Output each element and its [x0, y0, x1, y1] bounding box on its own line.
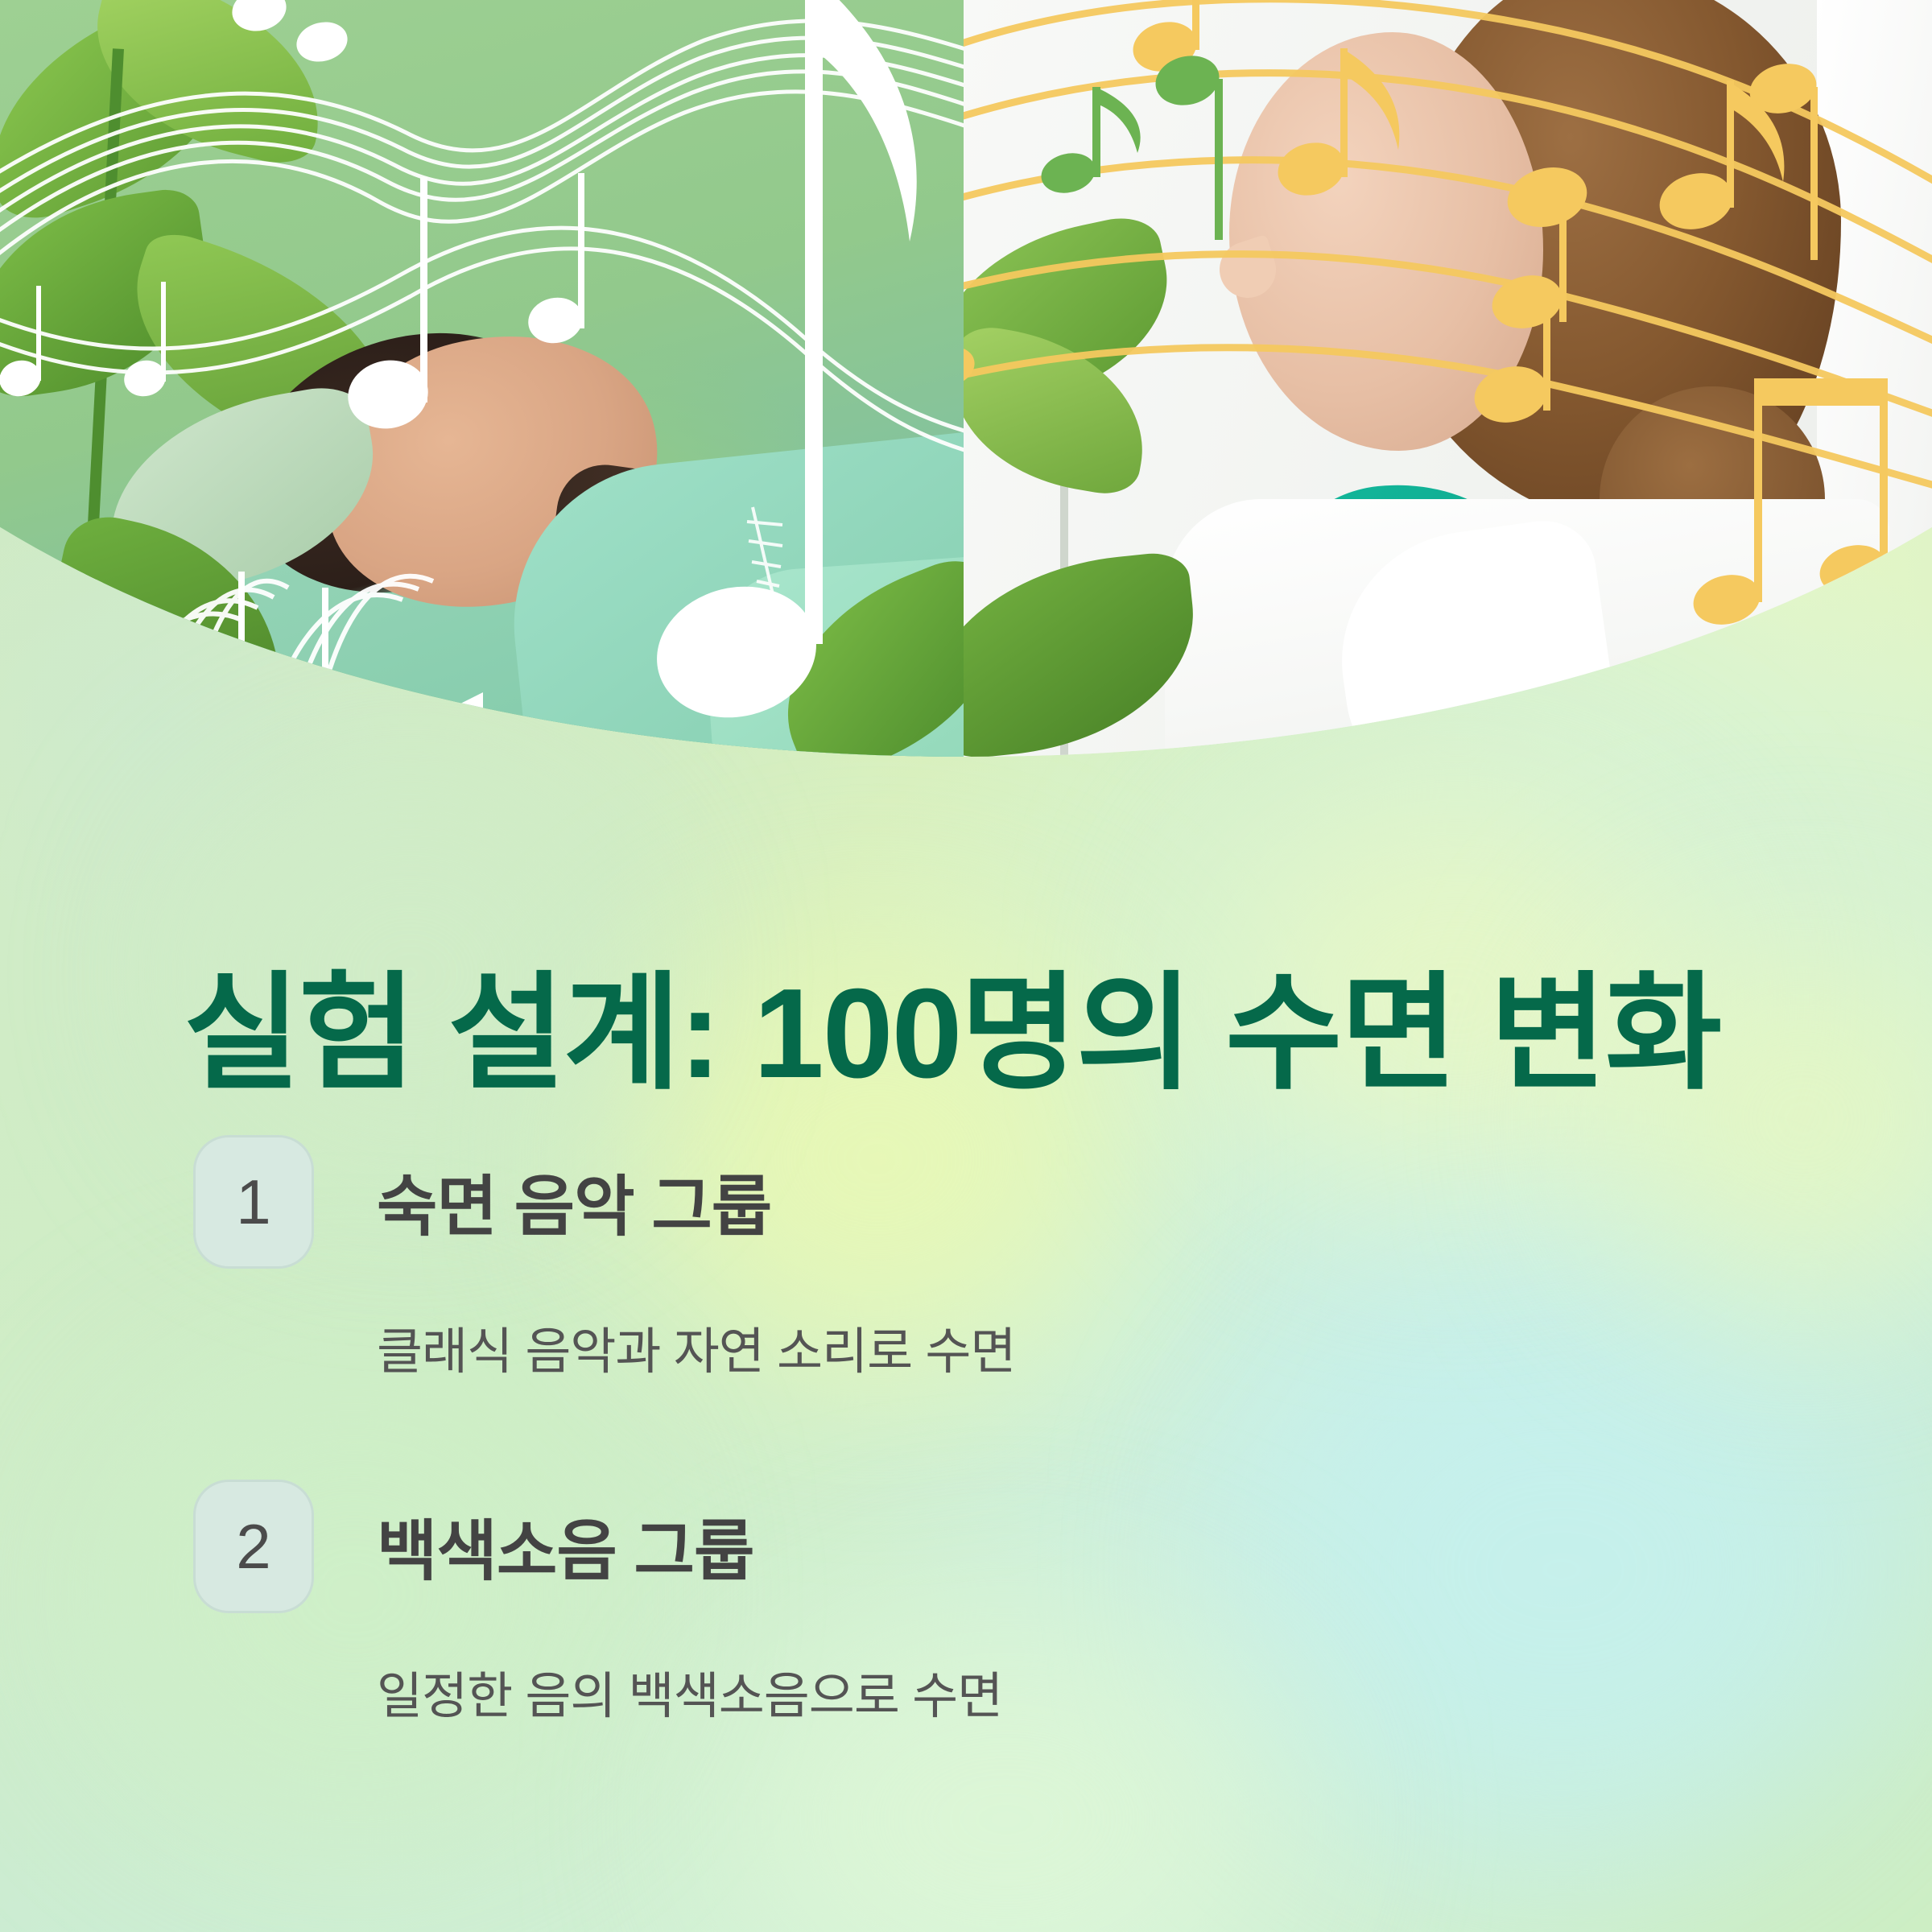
item-number: 1: [236, 1170, 270, 1233]
item-description: 클래식 음악과 자연 소리로 수면: [377, 1311, 1015, 1383]
item-number-badge: 1: [193, 1135, 314, 1269]
bokeh-blob: [97, 1368, 612, 1819]
item-number: 2: [236, 1515, 270, 1578]
sleep-study-infographic-card: 실험 설계: 100명의 수면 변화 1 숙면 음악 그룹 클래식 음악과 자연…: [0, 0, 1932, 1932]
item-heading: 백색소음 그룹: [377, 1497, 753, 1593]
item-number-badge: 2: [193, 1480, 314, 1613]
bokeh-blob: [1256, 1304, 1868, 1835]
item-description: 일정한 음의 백색소음으로 수면: [377, 1655, 1002, 1728]
page-title: 실험 설계: 100명의 수면 변화: [184, 930, 1720, 1114]
item-heading: 숙면 음악 그룹: [377, 1153, 771, 1249]
